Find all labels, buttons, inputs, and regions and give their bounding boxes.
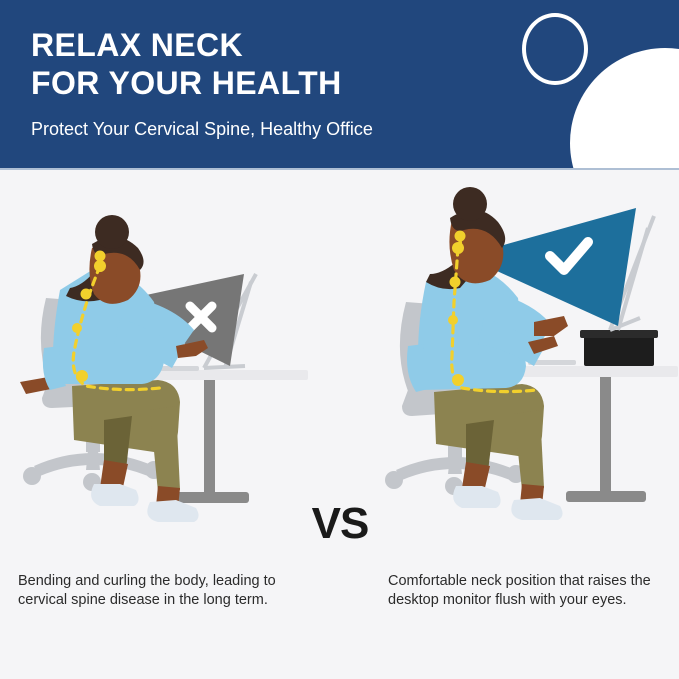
page-title-line-1: RELAX NECK <box>31 26 373 64</box>
caption-good-line-1: Comfortable neck position that raises th… <box>388 572 678 591</box>
decorative-circle-ring-icon <box>522 13 588 85</box>
caption-bad-posture: Bending and curling the body, leading to… <box>18 572 308 610</box>
decorative-circle-solid <box>570 48 679 168</box>
comparison-area: VS <box>0 170 679 550</box>
caption-bad-line-2: cervical spine disease in the long term. <box>18 591 308 610</box>
shoes-right <box>453 486 562 520</box>
head-right <box>426 187 505 289</box>
spine-joint-mid <box>72 323 82 333</box>
vs-label: VS <box>303 500 377 548</box>
header-banner: RELAX NECK FOR YOUR HEALTH Protect Your … <box>0 0 679 168</box>
desk-right <box>520 366 678 502</box>
caption-good-line-2: desktop monitor flush with your eyes. <box>388 591 678 610</box>
caption-bad-line-1: Bending and curling the body, leading to <box>18 572 308 591</box>
spine-joint-upper <box>81 289 92 300</box>
shoes-left <box>91 484 198 522</box>
page-title-line-2: FOR YOUR HEALTH <box>31 64 373 102</box>
spine-joint-upper <box>450 277 461 288</box>
spine-joint-mid <box>448 315 458 325</box>
spine-joint-neck <box>452 242 464 254</box>
spine-joint-neck <box>94 260 106 272</box>
caption-good-posture: Comfortable neck position that raises th… <box>388 572 678 610</box>
illustration-bad-posture <box>8 170 308 550</box>
page-subtitle: Protect Your Cervical Spine, Healthy Off… <box>31 118 373 140</box>
head-left <box>66 215 144 304</box>
spine-joint-hip <box>452 374 464 386</box>
header-text-block: RELAX NECK FOR YOUR HEALTH Protect Your … <box>31 26 373 140</box>
spine-joint-hip <box>76 370 88 382</box>
monitor-riser-right <box>580 330 658 366</box>
illustration-good-posture <box>378 170 678 550</box>
infographic-root: RELAX NECK FOR YOUR HEALTH Protect Your … <box>0 0 679 679</box>
